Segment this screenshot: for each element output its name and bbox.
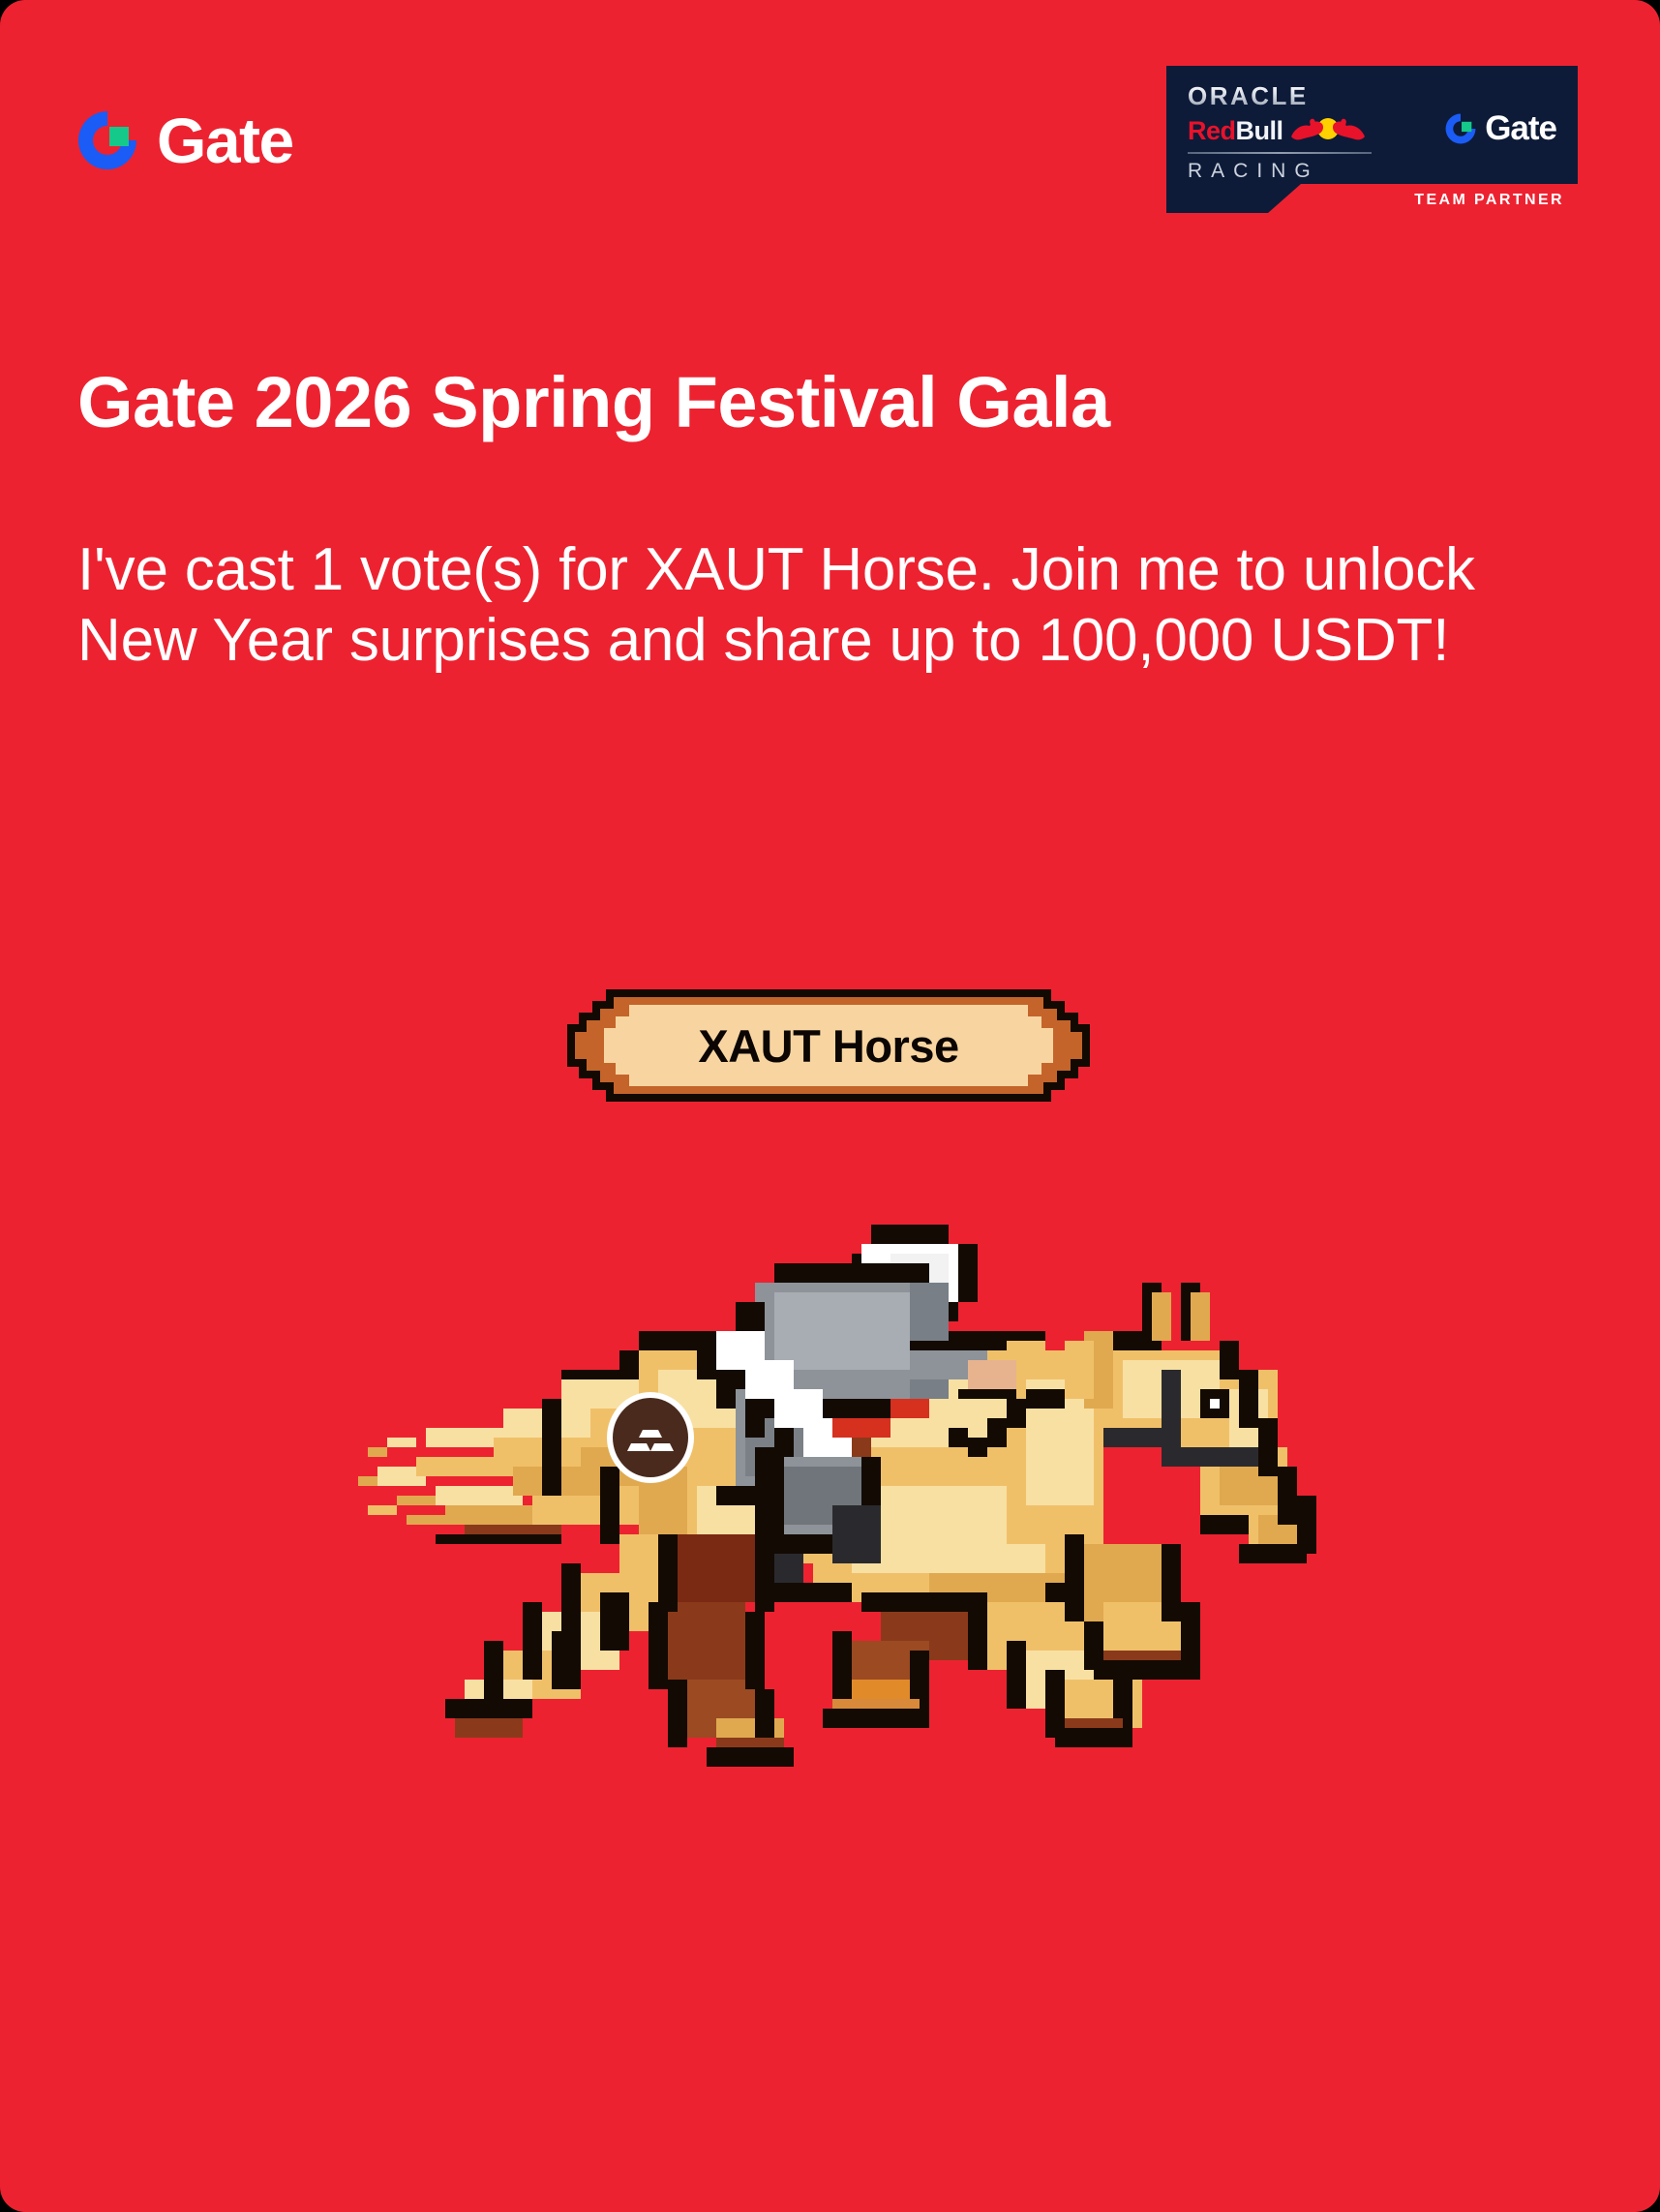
team-partner-label: TEAM PARTNER: [1414, 193, 1564, 208]
red-bull-word-red: Red: [1188, 116, 1236, 145]
oracle-wordmark: ORACLE: [1188, 83, 1372, 108]
partner-badge-gate-wordmark: Gate: [1485, 111, 1556, 145]
share-message: I've cast 1 vote(s) for XAUT Horse. Join…: [77, 534, 1573, 676]
red-bull-racing-lockup: ORACLE RedBull: [1188, 83, 1372, 181]
team-partner-banner: TEAM PARTNER: [1166, 184, 1578, 213]
pixel-horse-jockey-icon: [348, 1215, 1316, 1767]
gold-bars-token-icon: [604, 1391, 697, 1484]
candidate-nameplate: XAUT Horse: [548, 978, 1109, 1113]
share-card: Gate ORACLE RedBull: [0, 0, 1660, 2212]
red-bull-word-bull: Bull: [1236, 116, 1283, 145]
gate-wordmark: Gate: [157, 108, 293, 172]
red-bull-lockup: RedBull: [1188, 116, 1372, 145]
oracle-red-bull-racing-partner-badge: ORACLE RedBull: [1166, 66, 1578, 213]
gate-logo-icon: [75, 108, 139, 172]
candidate-nameplate-label: XAUT Horse: [548, 978, 1109, 1113]
gate-logo-icon: [1444, 112, 1477, 145]
gate-brand-logo: Gate: [75, 108, 293, 172]
red-bull-bulls-icon: [1289, 116, 1367, 145]
page-title: Gate 2026 Spring Festival Gala: [77, 363, 1529, 443]
partner-badge-panel: ORACLE RedBull: [1166, 66, 1578, 213]
partner-badge-gate-logo: Gate: [1444, 111, 1556, 145]
partner-badge-divider: [1188, 152, 1372, 154]
card-header: Gate ORACLE RedBull: [0, 0, 1660, 242]
red-bull-wordmark: RedBull: [1188, 118, 1283, 144]
racing-wordmark: RACING: [1188, 161, 1372, 181]
